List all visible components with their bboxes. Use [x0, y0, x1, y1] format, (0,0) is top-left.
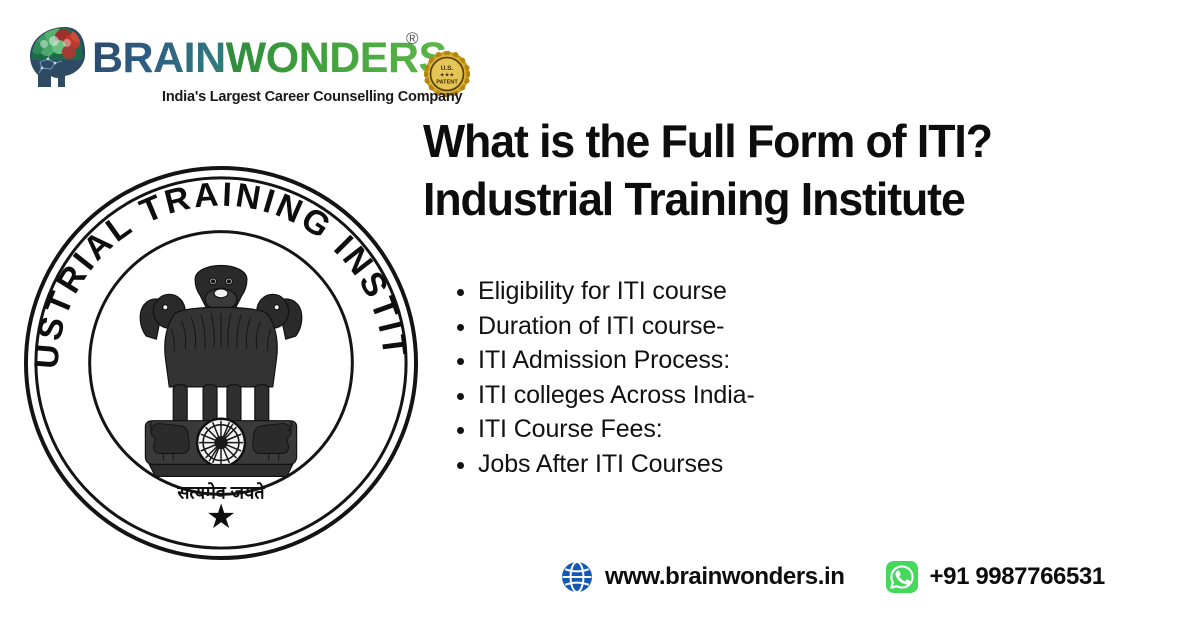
list-item: Eligibility for ITI course [452, 274, 755, 309]
wordmark-brain: BRAIN [92, 36, 226, 80]
topic-label: ITI colleges Across India- [478, 381, 755, 409]
svg-text:PATENT: PATENT [436, 79, 458, 85]
list-item: ITI Admission Process: [452, 343, 755, 378]
whatsapp-icon [885, 560, 919, 594]
list-item: Duration of ITI course- [452, 309, 755, 344]
registered-trademark-icon: ® [406, 30, 419, 47]
brand-header: BRAIN WONDERS ® U.S. ★★★ PATENT [24, 18, 454, 98]
topic-label: Eligibility for ITI course [478, 277, 727, 305]
topic-label: Jobs After ITI Courses [478, 450, 723, 478]
website-contact[interactable]: www.brainwonders.in [560, 560, 845, 594]
page-title-line-1: What is the Full Form of ITI? [423, 112, 1160, 170]
page-title-line-2: Industrial Training Institute [423, 170, 1160, 228]
website-label: www.brainwonders.in [605, 563, 845, 591]
brain-head-logo-icon [24, 26, 96, 88]
topic-label: Duration of ITI course- [478, 312, 724, 340]
brand-wordmark: BRAIN WONDERS [92, 36, 447, 80]
brand-tagline: India's Largest Career Counselling Compa… [162, 89, 462, 105]
contact-bar: www.brainwonders.in +91 9987766531 [560, 560, 1105, 594]
seal-star-icon: ★ [206, 498, 236, 536]
promo-banner: BRAIN WONDERS ® U.S. ★★★ PATENT [0, 0, 1200, 628]
svg-text:★★★: ★★★ [440, 73, 455, 79]
list-item: Jobs After ITI Courses [452, 447, 755, 482]
whatsapp-contact[interactable]: +91 9987766531 [885, 560, 1105, 594]
topic-label: ITI Course Fees: [478, 415, 663, 443]
globe-icon [560, 560, 594, 594]
svg-text:U.S.: U.S. [441, 65, 454, 72]
whatsapp-label: +91 9987766531 [930, 563, 1105, 591]
topic-label: ITI Admission Process: [478, 346, 730, 374]
topic-list: Eligibility for ITI course Duration of I… [452, 274, 755, 481]
industrial-training-institute-seal: INDUSTRIAL TRAINING INSTITUTE [22, 152, 420, 570]
page-title: What is the Full Form of ITI? Industrial… [423, 112, 1183, 228]
list-item: ITI colleges Across India- [452, 378, 755, 413]
list-item: ITI Course Fees: [452, 412, 755, 447]
